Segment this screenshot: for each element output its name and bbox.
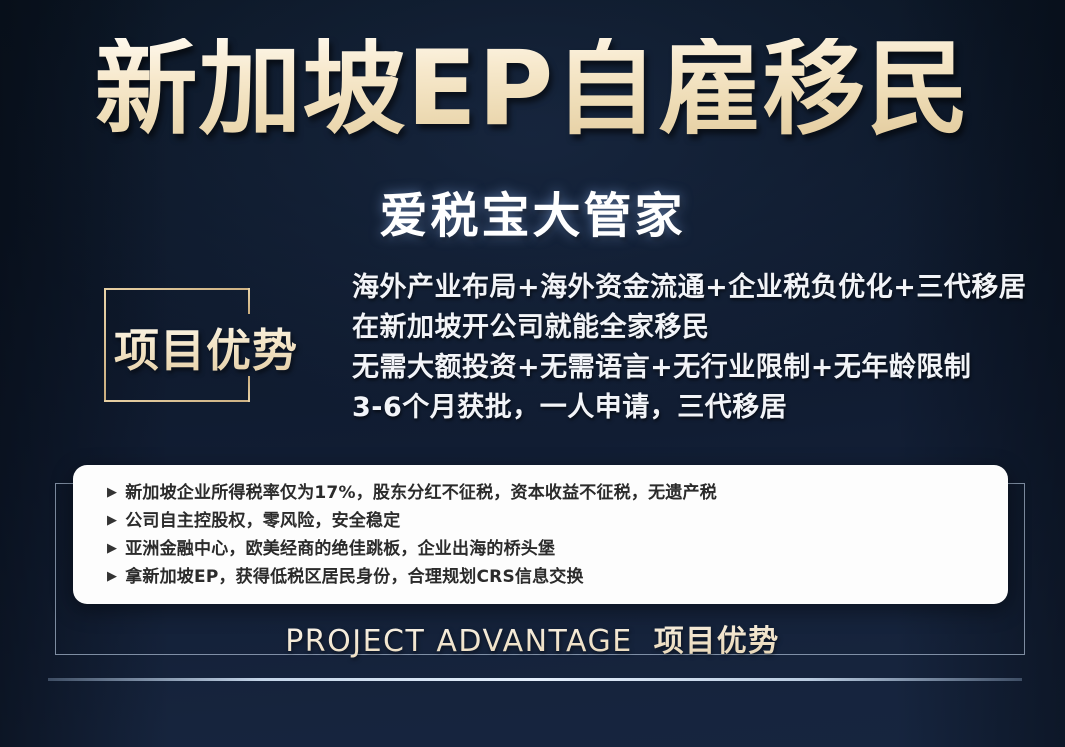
feature-line: 海外产业布局+海外资金流通+企业税负优化+三代移居 <box>352 268 1022 308</box>
list-item-label: 亚洲金融中心，欧美经商的绝佳跳板，企业出海的桥头堡 <box>125 535 555 563</box>
badge-frame-top-edge <box>104 288 250 290</box>
footer-caption: PROJECT ADVANTAGE 项目优势 <box>0 616 1065 660</box>
page-subtitle: 爱税宝大管家 <box>0 176 1065 246</box>
triangle-bullet-icon: ▶ <box>107 563 117 591</box>
feature-line: 无需大额投资+无需语言+无行业限制+无年龄限制 <box>352 348 1022 388</box>
badge-label: 项目优势 <box>114 314 298 379</box>
triangle-bullet-icon: ▶ <box>107 479 117 507</box>
project-advantage-badge: 项目优势 <box>104 288 250 402</box>
list-item: ▶ 公司自主控股权，零风险，安全稳定 <box>107 507 1008 535</box>
list-item-label: 公司自主控股权，零风险，安全稳定 <box>125 507 400 535</box>
badge-frame-left-edge <box>104 288 106 402</box>
list-item: ▶ 拿新加坡EP，获得低税区居民身份，合理规划CRS信息交换 <box>107 563 1008 591</box>
triangle-bullet-icon: ▶ <box>107 535 117 563</box>
bottom-divider <box>48 678 1022 681</box>
page-title: 新加坡EP自雇移民 <box>0 38 1065 141</box>
badge-frame-bottom-edge <box>104 400 250 402</box>
footer-caption-en: PROJECT ADVANTAGE <box>285 624 633 659</box>
list-item-label: 新加坡企业所得税率仅为17%，股东分红不征税，资本收益不征税，无遗产税 <box>125 479 717 507</box>
poster-canvas: 新加坡EP自雇移民 爱税宝大管家 项目优势 海外产业布局+海外资金流通+企业税负… <box>0 0 1065 747</box>
triangle-bullet-icon: ▶ <box>107 507 117 535</box>
list-item: ▶ 亚洲金融中心，欧美经商的绝佳跳板，企业出海的桥头堡 <box>107 535 1008 563</box>
badge-frame-right-top-stub <box>248 288 250 314</box>
feature-line: 在新加坡开公司就能全家移民 <box>352 308 1022 348</box>
badge-frame-right-bottom-stub <box>248 376 250 402</box>
footer-caption-cn: 项目优势 <box>654 624 780 659</box>
list-item: ▶ 新加坡企业所得税率仅为17%，股东分红不征税，资本收益不征税，无遗产税 <box>107 479 1008 507</box>
advantages-card: ▶ 新加坡企业所得税率仅为17%，股东分红不征税，资本收益不征税，无遗产税 ▶ … <box>73 465 1008 604</box>
list-item-label: 拿新加坡EP，获得低税区居民身份，合理规划CRS信息交换 <box>125 563 583 591</box>
feature-line: 3-6个月获批，一人申请，三代移居 <box>352 388 1022 428</box>
feature-list: 海外产业布局+海外资金流通+企业税负优化+三代移居 在新加坡开公司就能全家移民 … <box>352 268 1022 428</box>
